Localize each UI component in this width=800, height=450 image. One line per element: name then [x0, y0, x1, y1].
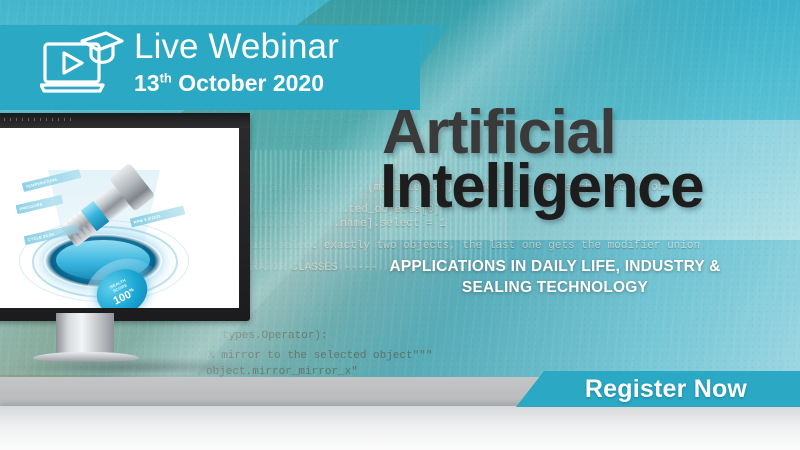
webinar-laptop-graduation-cap-icon	[40, 31, 124, 103]
register-now-label: Register Now	[585, 375, 747, 404]
webinar-date: 13th October 2020	[134, 68, 339, 98]
subtitle-block: APPLICATIONS IN DAILY LIFE, INDUSTRY & S…	[340, 256, 770, 298]
desktop-monitor-graphic: TEMPERATURE PRESSURE RPM 9.0/2021 CYCLE …	[0, 113, 250, 338]
webinar-promo-banner: mod.use_y = False mod.use_z = False Fals…	[0, 0, 800, 450]
register-now-button[interactable]: Register Now	[516, 371, 800, 407]
footer-white-band	[0, 406, 800, 450]
monitor-stand-base	[33, 352, 139, 362]
header-text-block: Live Webinar 13th October 2020	[134, 27, 339, 98]
main-title-line2: Intelligence	[380, 158, 782, 215]
monitor-bezel-dots	[0, 118, 76, 121]
monitor-screen: TEMPERATURE PRESSURE RPM 9.0/2021 CYCLE …	[0, 128, 239, 308]
webinar-date-day: 13	[134, 70, 160, 96]
webinar-date-rest: October 2020	[172, 70, 324, 96]
main-title-block: Artificial Intelligence	[382, 104, 782, 215]
webinar-date-ordinal: th	[160, 70, 172, 85]
live-webinar-title: Live Webinar	[134, 27, 339, 67]
subtitle-line1: APPLICATIONS IN DAILY LIFE, INDUSTRY &	[340, 256, 770, 277]
monitor-shadow	[12, 359, 262, 375]
monitor-stand-neck	[56, 313, 114, 355]
subtitle-line2: SEALING TECHNOLOGY	[340, 277, 770, 298]
